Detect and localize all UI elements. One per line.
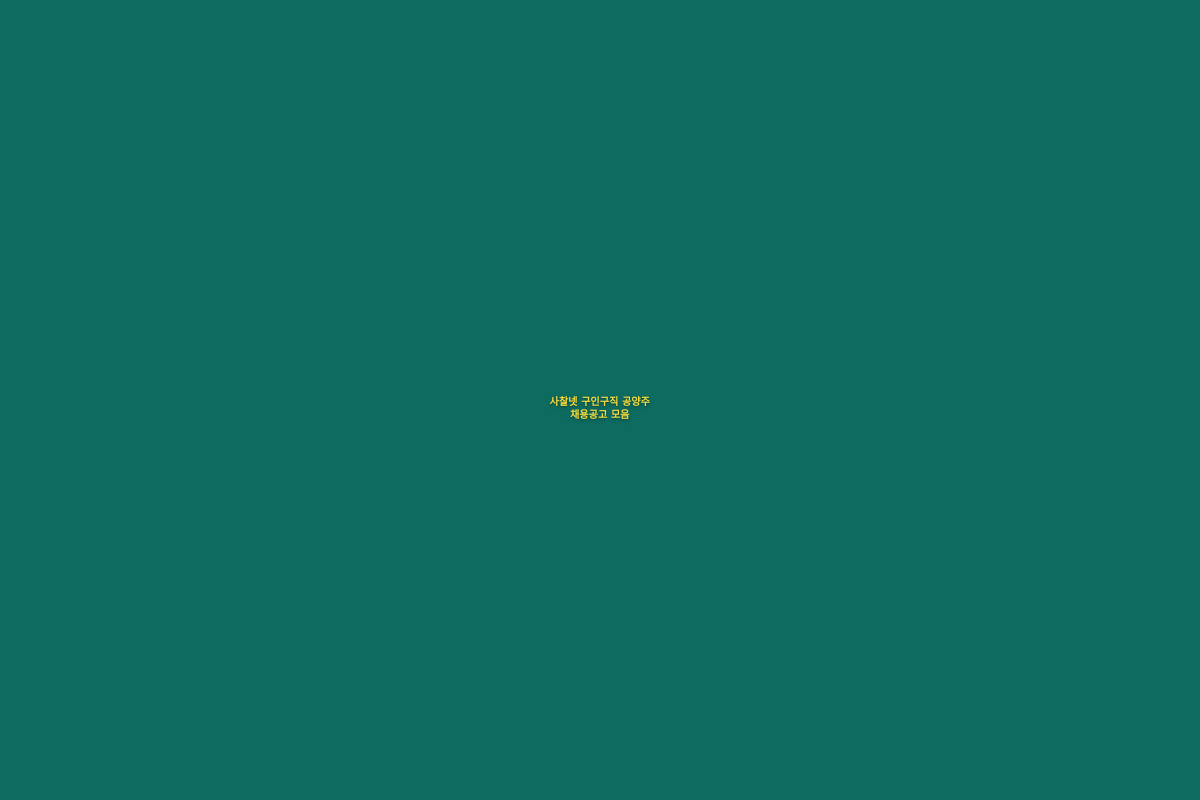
banner-image: 사찰넷 구인구직 공양주 채용공고 모음 (0, 0, 1200, 800)
headline-block: 사찰넷 구인구직 공양주 채용공고 모음 (0, 396, 1200, 423)
headline-line-1: 사찰넷 구인구직 공양주 (0, 396, 1200, 409)
headline-line-2: 채용공고 모음 (0, 409, 1200, 422)
